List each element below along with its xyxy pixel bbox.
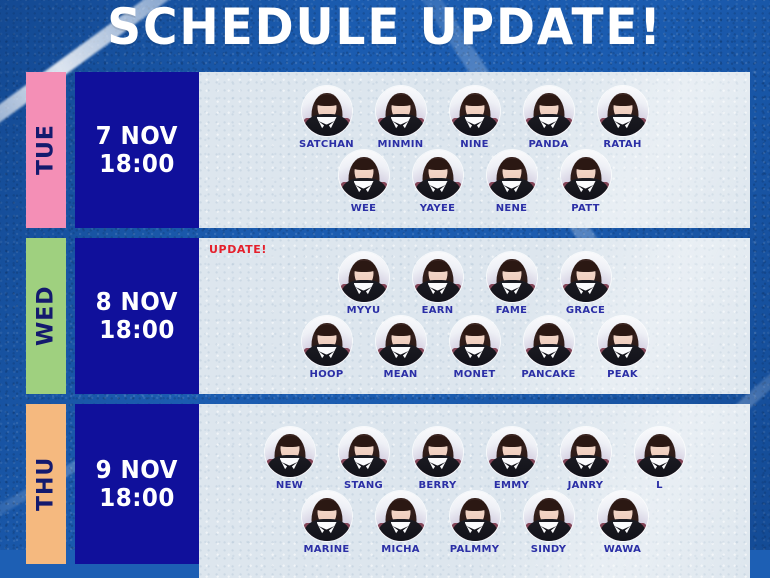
member-name: BERRY xyxy=(418,480,456,491)
member-name: HOOP xyxy=(310,369,344,380)
member-line: WEEYAYEENENEPATT xyxy=(199,150,750,214)
member-name: GRACE xyxy=(566,305,605,316)
member-avatar xyxy=(598,86,648,136)
member-avatar xyxy=(487,427,537,477)
bangs-shape xyxy=(537,500,561,511)
member-avatar xyxy=(376,86,426,136)
member-name: MYYU xyxy=(347,305,381,316)
bangs-shape xyxy=(426,261,450,272)
member-item[interactable]: L xyxy=(629,427,691,491)
bangs-shape xyxy=(500,436,524,447)
page-title: SCHEDULE UPDATE! xyxy=(23,0,747,60)
member-name: PANCAKE xyxy=(521,369,575,380)
member-item[interactable]: MARINE xyxy=(296,491,358,555)
date-text: 7 NOV xyxy=(96,122,178,150)
member-item[interactable]: GRACE xyxy=(555,252,617,316)
member-line: MYYUEARNFAMEGRACE xyxy=(199,252,750,316)
member-name: L xyxy=(656,480,663,491)
member-item[interactable]: YAYEE xyxy=(407,150,469,214)
bangs-shape xyxy=(463,500,487,511)
member-avatar xyxy=(302,316,352,366)
member-item[interactable]: EARN xyxy=(407,252,469,316)
bangs-shape xyxy=(315,500,339,511)
member-lines: SATCHANMINMINNINEPANDARATAHWEEYAYEENENEP… xyxy=(199,72,750,228)
bangs-shape xyxy=(574,261,598,272)
member-avatar xyxy=(524,491,574,541)
member-name: STANG xyxy=(344,480,383,491)
member-avatar xyxy=(598,491,648,541)
bangs-shape xyxy=(278,436,302,447)
member-item[interactable]: MYYU xyxy=(333,252,395,316)
member-name: NENE xyxy=(496,203,528,214)
day-tab-thu: THU xyxy=(26,404,66,564)
member-item[interactable]: SATCHAN xyxy=(296,86,358,150)
member-avatar xyxy=(302,86,352,136)
member-avatar xyxy=(265,427,315,477)
bangs-shape xyxy=(574,159,598,170)
member-avatar xyxy=(450,86,500,136)
member-item[interactable]: NEW xyxy=(259,427,321,491)
member-name: PATT xyxy=(571,203,599,214)
member-name: PEAK xyxy=(607,369,638,380)
member-item[interactable]: NINE xyxy=(444,86,506,150)
member-avatar xyxy=(524,316,574,366)
member-item[interactable]: BERRY xyxy=(407,427,469,491)
member-item[interactable]: SINDY xyxy=(518,491,580,555)
member-item[interactable]: EMMY xyxy=(481,427,543,491)
bangs-shape xyxy=(648,436,672,447)
member-item[interactable]: PEAK xyxy=(592,316,654,380)
member-panel-wed: UPDATE!MYYUEARNFAMEGRACEHOOPMEANMONETPAN… xyxy=(199,238,750,394)
member-name: NEW xyxy=(276,480,303,491)
date-text: 8 NOV xyxy=(96,288,178,316)
member-line: NEWSTANGBERRYEMMYJANRYL xyxy=(199,427,750,491)
member-avatar xyxy=(487,252,537,302)
member-lines: MYYUEARNFAMEGRACEHOOPMEANMONETPANCAKEPEA… xyxy=(199,238,750,394)
bangs-shape xyxy=(315,325,339,336)
member-avatar xyxy=(487,150,537,200)
bangs-shape xyxy=(500,159,524,170)
member-item[interactable]: NENE xyxy=(481,150,543,214)
time-text: 18:00 xyxy=(99,484,175,512)
member-name: JANRY xyxy=(568,480,604,491)
date-time-box-tue: 7 NOV18:00 xyxy=(75,72,199,228)
member-name: WEE xyxy=(351,203,377,214)
date-time-box-wed: 8 NOV18:00 xyxy=(75,238,199,394)
member-name: RATAH xyxy=(603,139,641,150)
schedule-row-thu: THU9 NOV18:00NEWSTANGBERRYEMMYJANRYLMARI… xyxy=(0,404,770,564)
member-name: YAYEE xyxy=(420,203,455,214)
date-text: 9 NOV xyxy=(96,456,178,484)
update-badge: UPDATE! xyxy=(209,243,267,256)
member-item[interactable]: STANG xyxy=(333,427,395,491)
bangs-shape xyxy=(315,95,339,106)
bangs-shape xyxy=(352,261,376,272)
bangs-shape xyxy=(389,325,413,336)
member-avatar xyxy=(450,316,500,366)
member-avatar xyxy=(339,427,389,477)
bangs-shape xyxy=(537,95,561,106)
member-item[interactable]: JANRY xyxy=(555,427,617,491)
bangs-shape xyxy=(574,436,598,447)
bangs-shape xyxy=(500,261,524,272)
member-avatar xyxy=(524,86,574,136)
schedule-row-tue: TUE7 NOV18:00SATCHANMINMINNINEPANDARATAH… xyxy=(0,72,770,228)
date-time-box-thu: 9 NOV18:00 xyxy=(75,404,199,564)
member-name: MONET xyxy=(454,369,496,380)
member-avatar xyxy=(376,316,426,366)
member-avatar xyxy=(339,252,389,302)
bangs-shape xyxy=(352,436,376,447)
bangs-shape xyxy=(611,325,635,336)
member-avatar xyxy=(376,491,426,541)
bangs-shape xyxy=(463,95,487,106)
member-item[interactable]: PALMMY xyxy=(444,491,506,555)
member-name: EARN xyxy=(422,305,454,316)
member-panel-tue: SATCHANMINMINNINEPANDARATAHWEEYAYEENENEP… xyxy=(199,72,750,228)
bangs-shape xyxy=(611,500,635,511)
member-item[interactable]: HOOP xyxy=(296,316,358,380)
member-avatar xyxy=(413,252,463,302)
time-text: 18:00 xyxy=(99,316,175,344)
member-avatar xyxy=(450,491,500,541)
member-item[interactable]: MINMIN xyxy=(370,86,432,150)
member-name: NINE xyxy=(460,139,489,150)
bangs-shape xyxy=(389,95,413,106)
day-tab-label: WED xyxy=(26,238,66,394)
member-name: MINMIN xyxy=(378,139,424,150)
day-tab-label: THU xyxy=(26,404,66,564)
member-avatar xyxy=(561,427,611,477)
day-tab-tue: TUE xyxy=(26,72,66,228)
member-avatar xyxy=(413,150,463,200)
member-name: MEAN xyxy=(383,369,417,380)
member-name: SATCHAN xyxy=(299,139,354,150)
member-avatar xyxy=(561,150,611,200)
bangs-shape xyxy=(426,159,450,170)
member-item[interactable]: MICHA xyxy=(370,491,432,555)
member-name: FAME xyxy=(496,305,527,316)
member-line: MARINEMICHAPALMMYSINDYWAWA xyxy=(199,491,750,555)
member-item[interactable]: MONET xyxy=(444,316,506,380)
bangs-shape xyxy=(426,436,450,447)
member-name: PANDA xyxy=(528,139,568,150)
bangs-shape xyxy=(537,325,561,336)
member-item[interactable]: MEAN xyxy=(370,316,432,380)
member-avatar xyxy=(635,427,685,477)
member-avatar xyxy=(413,427,463,477)
member-name: EMMY xyxy=(494,480,529,491)
member-item[interactable]: WAWA xyxy=(592,491,654,555)
member-avatar xyxy=(598,316,648,366)
member-item[interactable]: PANCAKE xyxy=(518,316,580,380)
member-line: SATCHANMINMINNINEPANDARATAH xyxy=(199,86,750,150)
member-line: HOOPMEANMONETPANCAKEPEAK xyxy=(199,316,750,380)
member-avatar xyxy=(561,252,611,302)
member-item[interactable]: PATT xyxy=(555,150,617,214)
schedule-row-wed: WED8 NOV18:00UPDATE!MYYUEARNFAMEGRACEHOO… xyxy=(0,238,770,394)
bangs-shape xyxy=(463,325,487,336)
member-item[interactable]: PANDA xyxy=(518,86,580,150)
day-tab-wed: WED xyxy=(26,238,66,394)
time-text: 18:00 xyxy=(99,150,175,178)
member-item[interactable]: FAME xyxy=(481,252,543,316)
member-avatar xyxy=(302,491,352,541)
bangs-shape xyxy=(352,159,376,170)
bangs-shape xyxy=(611,95,635,106)
member-panel-thu: NEWSTANGBERRYEMMYJANRYLMARINEMICHAPALMMY… xyxy=(199,404,750,578)
day-tab-label: TUE xyxy=(26,72,66,228)
member-avatar xyxy=(339,150,389,200)
member-item[interactable]: RATAH xyxy=(592,86,654,150)
bangs-shape xyxy=(389,500,413,511)
member-item[interactable]: WEE xyxy=(333,150,395,214)
member-lines: NEWSTANGBERRYEMMYJANRYLMARINEMICHAPALMMY… xyxy=(199,404,750,578)
